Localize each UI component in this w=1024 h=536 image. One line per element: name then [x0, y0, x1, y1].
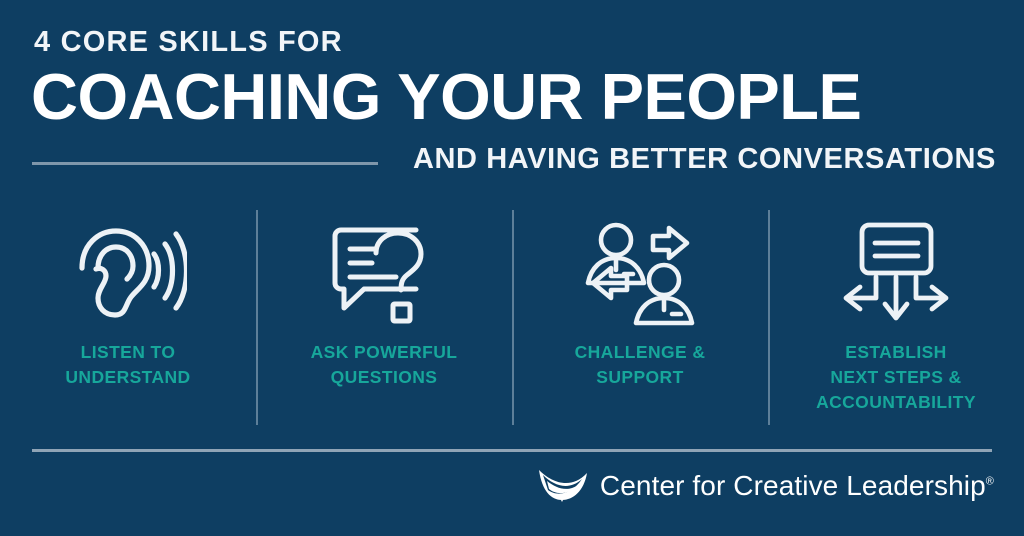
skill-item-ask-questions: ASK POWERFUL QUESTIONS: [256, 205, 512, 430]
two-people-exchange-arrows-icon: [575, 205, 705, 340]
registered-trademark-icon: ®: [986, 475, 994, 487]
skill-label-next-steps: ESTABLISH NEXT STEPS & ACCOUNTABILITY: [810, 340, 982, 415]
skills-row: LISTEN TO UNDERSTAND ASK POWERFUL QUESTI…: [0, 205, 1024, 430]
skill-item-listen: LISTEN TO UNDERSTAND: [0, 205, 256, 430]
page-title: COACHING YOUR PEOPLE: [31, 64, 861, 131]
document-branching-arrows-icon: [835, 205, 957, 340]
skill-label-ask-questions: ASK POWERFUL QUESTIONS: [305, 340, 464, 390]
ccl-logo-text: Center for Creative Leadership®: [600, 472, 994, 500]
infographic-canvas: 4 CORE SKILLS FOR COACHING YOUR PEOPLE A…: [0, 0, 1024, 536]
eyebrow-text: 4 CORE SKILLS FOR: [34, 28, 343, 57]
footer-divider-rule: [32, 449, 992, 452]
ccl-swoosh-icon: [538, 464, 588, 507]
ear-listening-icon: [69, 205, 187, 340]
skill-label-challenge-support: CHALLENGE & SUPPORT: [569, 340, 712, 390]
skill-label-listen: LISTEN TO UNDERSTAND: [59, 340, 196, 390]
subtitle-text: AND HAVING BETTER CONVERSATIONS: [413, 145, 996, 174]
skill-item-challenge-support: CHALLENGE & SUPPORT: [512, 205, 768, 430]
header-divider-rule: [32, 162, 378, 165]
ccl-logo: Center for Creative Leadership®: [538, 464, 994, 507]
skill-item-next-steps: ESTABLISH NEXT STEPS & ACCOUNTABILITY: [768, 205, 1024, 430]
ccl-logo-wordmark: Center for Creative Leadership: [600, 470, 986, 501]
speech-bubble-question-icon: [328, 205, 440, 340]
